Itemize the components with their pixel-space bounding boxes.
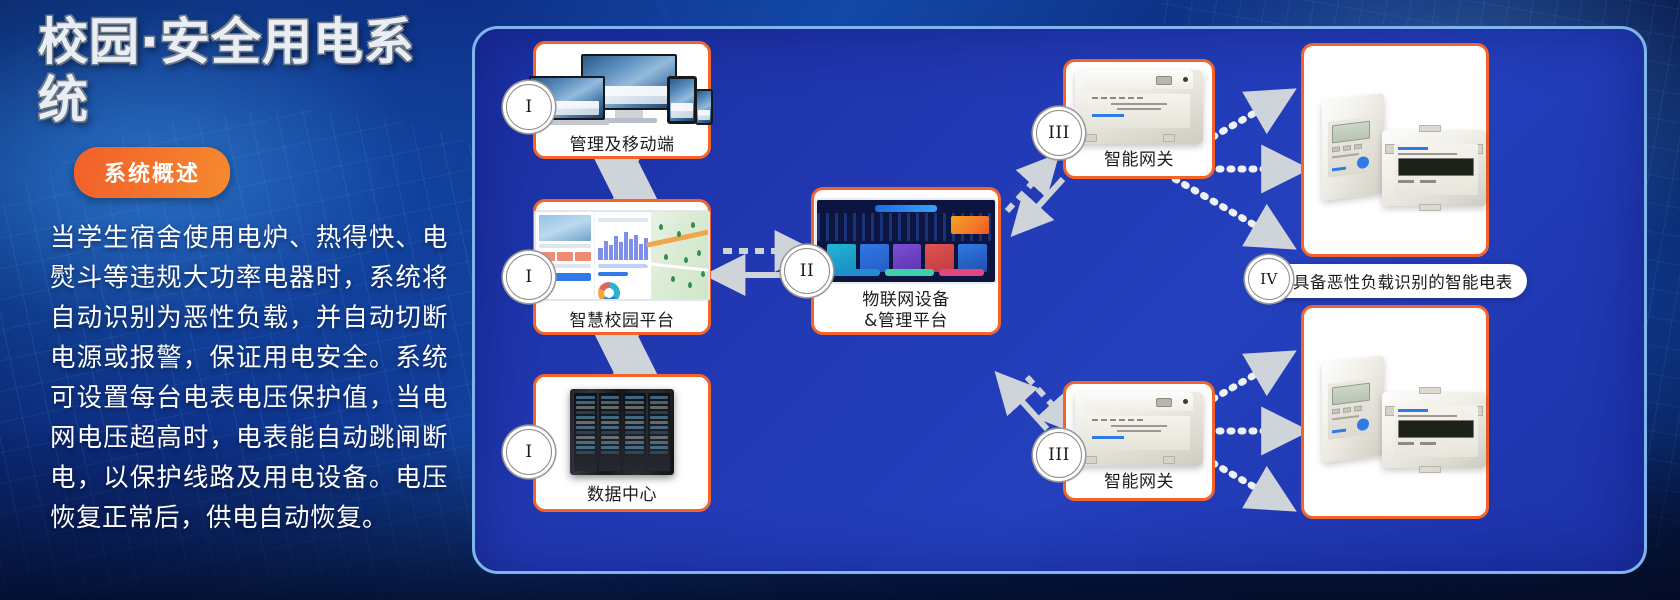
node-iot-platform[interactable]: II 物联网设备 &管理平台 [811,187,1001,335]
node-management-mobile[interactable]: I 管理及移动端 [533,41,711,159]
devices-icon [529,54,715,123]
numeral-badge-datacenter: I [506,429,552,475]
numeral-badge-campus: I [506,254,552,300]
meter-callout-text: 具备恶性负载识别的智能电表 [1293,269,1513,293]
section-badge: 系统概述 [74,147,230,198]
node-data-center[interactable]: I 数据中心 [533,374,711,512]
intro-column: 校园·安全用电系统 系统概述 当学生宿舍使用电炉、热得快、电熨斗等违规大功率电器… [30,14,460,584]
node-label-campus: 智慧校园平台 [570,311,675,332]
single-phase-meter-icon [1304,97,1376,203]
node-label-management: 管理及移动端 [570,135,675,156]
node-label-datacenter: 数据中心 [587,485,657,506]
numeral-badge-meters: IV [1248,258,1290,300]
node-smart-campus[interactable]: I [533,199,711,335]
node-label-gateway-top: 智能网关 [1104,150,1174,171]
iot-dashboard-icon [815,198,997,284]
page-root: 校园·安全用电系统 系统概述 当学生宿舍使用电炉、热得快、电熨斗等违规大功率电器… [0,0,1680,600]
numeral-badge-management: I [506,84,552,130]
gateway-icon [1075,70,1203,144]
node-label-gateway-bottom: 智能网关 [1104,472,1174,493]
page-title: 校园·安全用电系统 [38,14,460,129]
din-rail-meter-icon [1382,392,1486,468]
numeral-badge-iot: II [784,248,830,294]
description-text: 当学生宿舍使用电炉、热得快、电熨斗等违规大功率电器时，系统将自动识别为恶性负载，… [50,218,448,538]
server-rack-icon [570,389,674,475]
arrow-iot-gateway-top [1007,169,1063,221]
numeral-badge-gateway-bottom: III [1036,432,1082,478]
single-phase-meter-icon [1304,359,1376,465]
dashboard-icon [534,210,710,301]
meter-callout-label: IV 具备恶性负载识别的智能电表 [1251,264,1527,298]
node-gateway-top[interactable]: III 智能网关 [1063,59,1215,179]
arrow-campus-datacenter [617,335,635,374]
arrow-management-campus [617,160,635,199]
node-label-iot-line1: 物联网设备 [862,290,950,311]
node-label-iot-line2: &管理平台 [864,311,948,332]
gateway-icon [1075,392,1203,466]
meter-panel-top[interactable] [1301,43,1489,257]
arrow-iot-gateway-bottom [1009,377,1065,429]
node-gateway-bottom[interactable]: III 智能网关 [1063,381,1215,501]
meter-panel-bottom[interactable] [1301,305,1489,519]
architecture-diagram-panel: I 管理及移动端 I [472,26,1647,574]
din-rail-meter-icon [1382,130,1486,206]
numeral-badge-gateway-top: III [1036,110,1082,156]
